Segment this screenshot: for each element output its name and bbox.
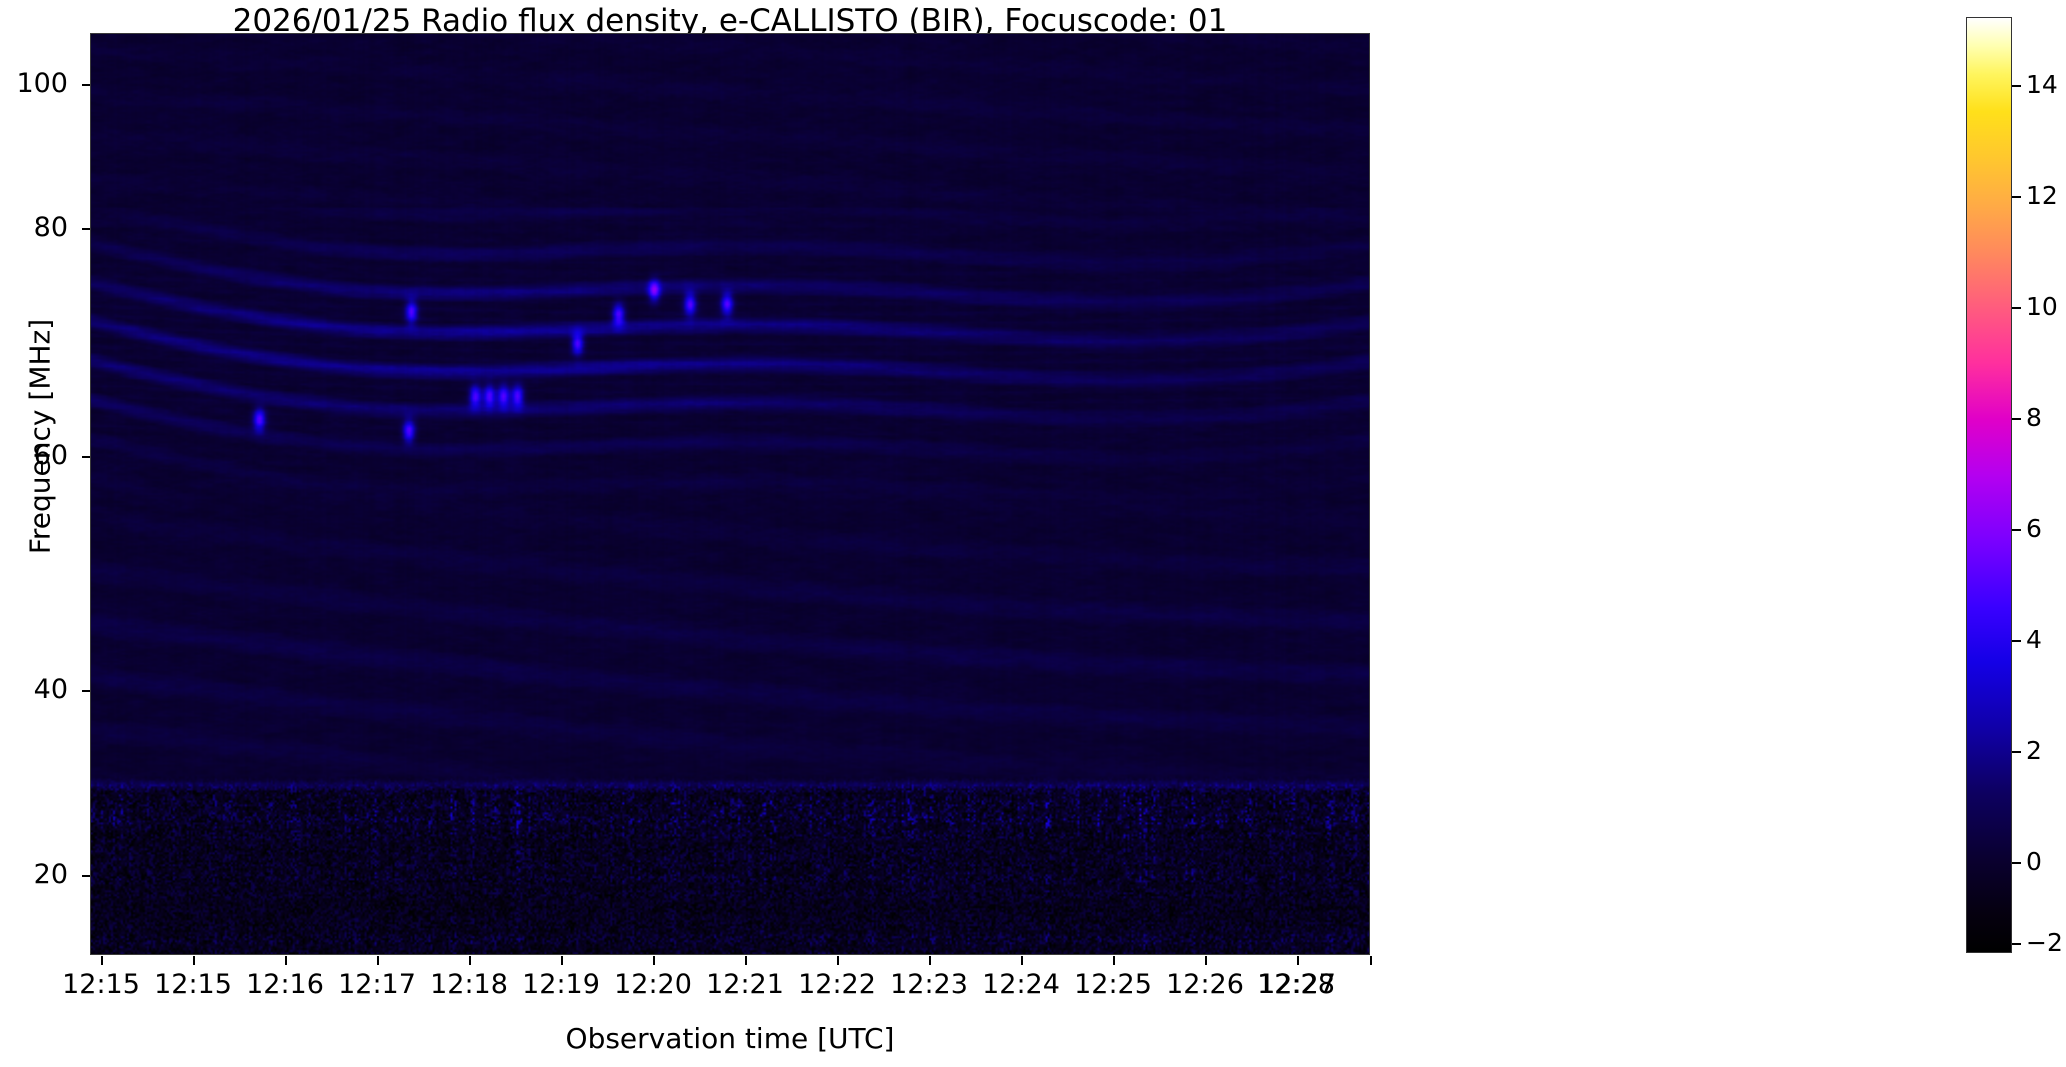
y-tick-mark [82, 84, 90, 86]
colorbar-tick-label: 10 [2026, 294, 2058, 319]
x-tick-mark [1205, 956, 1207, 965]
x-tick-mark [1021, 956, 1023, 965]
x-tick-mark [929, 956, 931, 965]
spectrogram-heatmap-image [91, 34, 1369, 954]
y-tick-label: 100 [16, 70, 68, 97]
colorbar-tick-label: 12 [2026, 183, 2058, 208]
x-tick-mark [653, 956, 655, 965]
x-tick-label: 12:28 [1221, 970, 1371, 1000]
x-tick-mark [837, 956, 839, 965]
colorbar-tick-label: 8 [2026, 405, 2042, 430]
colorbar-tick-mark [2012, 85, 2021, 87]
x-tick-mark [1370, 956, 1372, 965]
colorbar[interactable] [1966, 17, 2012, 953]
colorbar-tick-label: 2 [2026, 738, 2042, 763]
x-tick-mark [193, 956, 195, 965]
x-tick-mark [469, 956, 471, 965]
x-tick-mark [745, 956, 747, 965]
colorbar-tick-label: 4 [2026, 627, 2042, 652]
colorbar-tick-mark [2012, 862, 2021, 864]
y-tick-mark [82, 875, 90, 877]
colorbar-tick-label: −2 [2026, 930, 2063, 955]
y-tick-label: 80 [34, 214, 68, 241]
colorbar-tick-label: 14 [2026, 72, 2058, 97]
spectrogram-axes[interactable] [90, 33, 1370, 955]
x-tick-mark [1297, 956, 1299, 965]
y-tick-mark [82, 456, 90, 458]
colorbar-tick-label: 0 [2026, 849, 2042, 874]
figure-canvas: 2026/01/25 Radio flux density, e-CALLIST… [0, 0, 2066, 1067]
x-tick-mark [1113, 956, 1115, 965]
colorbar-tick-mark [2012, 943, 2021, 945]
colorbar-tick-mark [2012, 751, 2021, 753]
y-tick-label: 60 [34, 442, 68, 469]
x-tick-mark [561, 956, 563, 965]
colorbar-tick-mark [2012, 640, 2021, 642]
colorbar-tick-label: 6 [2026, 516, 2042, 541]
y-tick-mark [82, 228, 90, 230]
y-tick-label: 20 [34, 861, 68, 888]
spectrogram-canvas [91, 34, 1369, 954]
colorbar-tick-mark [2012, 307, 2021, 309]
colorbar-tick-mark [2012, 196, 2021, 198]
colorbar-tick-mark [2012, 418, 2021, 420]
colorbar-tick-mark [2012, 529, 2021, 531]
y-axis-title: Frequency [MHz] [24, 257, 57, 617]
x-tick-mark [377, 956, 379, 965]
y-tick-mark [82, 690, 90, 692]
x-axis-title: Observation time [UTC] [90, 1022, 1370, 1055]
y-tick-label: 40 [34, 676, 68, 703]
x-tick-mark [285, 956, 287, 965]
x-tick-mark [101, 956, 103, 965]
